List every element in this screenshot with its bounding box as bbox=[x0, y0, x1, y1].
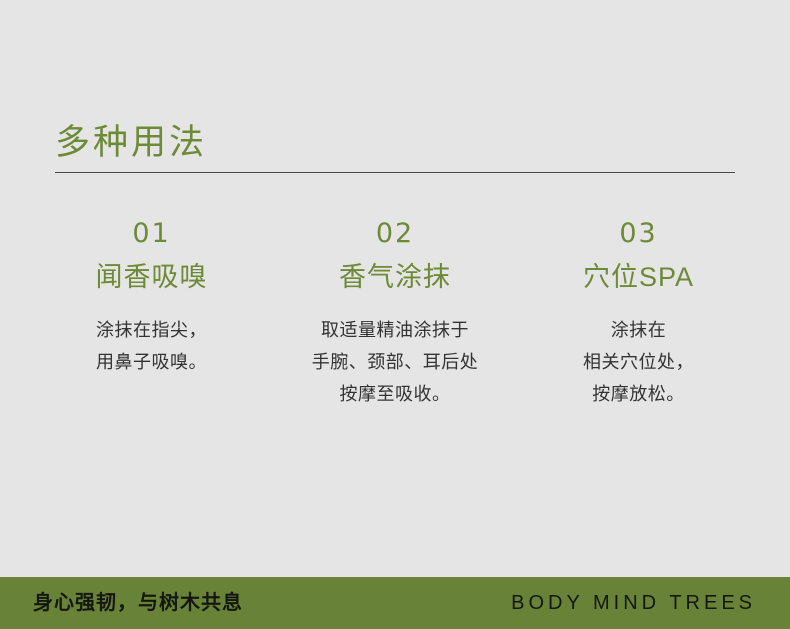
usage-heading-02: 香气涂抹 bbox=[274, 260, 517, 294]
usage-body-line: 按摩至吸收。 bbox=[274, 378, 517, 410]
footer-brand: BODY MIND TREES bbox=[511, 590, 756, 616]
usage-column-02: 02 香气涂抹 取适量精油涂抹于 手腕、颈部、耳后处 按摩至吸收。 bbox=[274, 216, 517, 410]
usage-body-line: 用鼻子吸嗅。 bbox=[30, 346, 273, 378]
usage-heading-03: 穴位SPA bbox=[517, 260, 760, 294]
usage-heading-01: 闻香吸嗅 bbox=[30, 260, 273, 294]
page-title: 多种用法 bbox=[55, 119, 207, 167]
usage-body-01: 涂抹在指尖， 用鼻子吸嗅。 bbox=[30, 314, 273, 378]
usage-body-line: 涂抹在 bbox=[517, 314, 760, 346]
usage-number-01: 01 bbox=[30, 216, 273, 252]
usage-body-03: 涂抹在 相关穴位处， 按摩放松。 bbox=[517, 314, 760, 410]
usage-number-02: 02 bbox=[274, 216, 517, 252]
usage-body-line: 取适量精油涂抹于 bbox=[274, 314, 517, 346]
usage-body-line: 手腕、颈部、耳后处 bbox=[274, 346, 517, 378]
usage-body-line: 按摩放松。 bbox=[517, 378, 760, 410]
usage-body-line: 涂抹在指尖， bbox=[30, 314, 273, 346]
usage-column-01: 01 闻香吸嗅 涂抹在指尖， 用鼻子吸嗅。 bbox=[30, 216, 273, 378]
usage-number-03: 03 bbox=[517, 216, 760, 252]
usage-body-line: 相关穴位处， bbox=[517, 346, 760, 378]
usage-columns: 01 闻香吸嗅 涂抹在指尖， 用鼻子吸嗅。 02 香气涂抹 取适量精油涂抹于 手… bbox=[30, 216, 760, 410]
usage-column-03: 03 穴位SPA 涂抹在 相关穴位处， 按摩放松。 bbox=[517, 216, 760, 410]
footer-bar: 身心强韧，与树木共息 BODY MIND TREES bbox=[0, 577, 790, 629]
title-divider bbox=[55, 172, 735, 173]
footer-slogan: 身心强韧，与树木共息 bbox=[33, 590, 243, 616]
usage-body-02: 取适量精油涂抹于 手腕、颈部、耳后处 按摩至吸收。 bbox=[274, 314, 517, 410]
usage-methods-page: 多种用法 01 闻香吸嗅 涂抹在指尖， 用鼻子吸嗅。 02 香气涂抹 取适量精油… bbox=[0, 0, 790, 629]
